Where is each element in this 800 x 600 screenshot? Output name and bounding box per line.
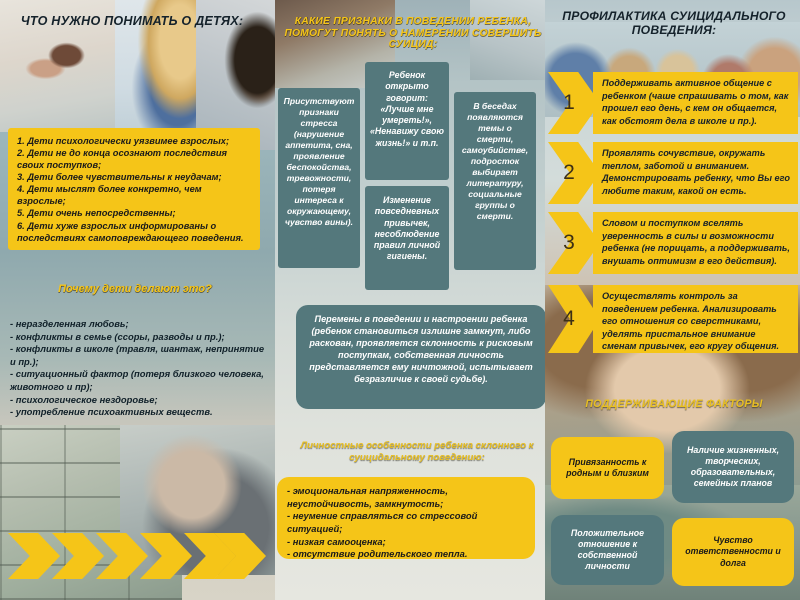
list-item: 6. Дети хуже взрослых информированы о по…	[17, 220, 251, 244]
list-item: - неразделенная любовь;	[10, 318, 268, 331]
sign-box-open-statements: Ребенок открыто говорит: «Лучше мне умер…	[365, 62, 449, 180]
chevron-decoration-strip	[8, 533, 270, 581]
prevention-item-2: 2 Проявлять сочувствие, окружать теплом,…	[548, 142, 798, 204]
list-item: - психологическое нездоровье;	[10, 394, 268, 407]
item-number: 3	[554, 231, 584, 255]
personal-traits-panel: - эмоциональная напряженность, неустойчи…	[277, 477, 535, 559]
supporting-factors-title: ПОДДЕРЖИВАЮЩИЕ ФАКТОРЫ	[552, 398, 796, 411]
prevention-item-1: 1 Поддерживать активное общение с ребенк…	[548, 72, 798, 134]
children-facts-list: 1. Дети психологически уязвимее взрослых…	[17, 135, 251, 244]
list-item: 3. Дети более чувствительны к неудачам;	[17, 171, 251, 183]
item-number: 4	[554, 307, 584, 331]
support-card-plans: Наличие жизненных, творческих, образоват…	[672, 431, 794, 503]
list-item: 4. Дети мыслят более конкретно, чем взро…	[17, 183, 251, 207]
item-text: Осуществлять контроль за поведением ребе…	[593, 285, 798, 353]
why-reasons-list: - неразделенная любовь; - конфликты в се…	[10, 318, 268, 419]
item-text: Поддерживать активное общение с ребенком…	[593, 72, 798, 134]
list-item: - употребление психоактивных веществ.	[10, 406, 268, 419]
children-facts-panel: 1. Дети психологически уязвимее взрослых…	[8, 128, 260, 250]
list-item: - конфликты в школе (травля, шантаж, неп…	[10, 343, 268, 368]
list-item: - эмоциональная напряженность, неустойчи…	[287, 485, 525, 510]
list-item: 1. Дети психологически уязвимее взрослых…	[17, 135, 251, 147]
behaviour-change-wide-box: Перемены в поведении и настроении ребенк…	[296, 305, 546, 409]
sign-box-habit-change: Изменение повседневных привычек, несоблю…	[365, 186, 449, 290]
support-card-responsibility: Чувство ответственности и долга	[672, 518, 794, 586]
item-text: Словом и поступком вселять уверенность в…	[593, 212, 798, 274]
support-card-self-attitude: Положительное отношение к собственной ли…	[551, 515, 664, 585]
sign-box-stress: Присутствуют признаки стресса (нарушение…	[278, 88, 360, 268]
list-item: - неумение справляться со стрессовой сит…	[287, 510, 525, 535]
item-number: 1	[554, 91, 584, 115]
personal-traits-list: - эмоциональная напряженность, неустойчи…	[287, 485, 525, 561]
infographic-poster: ЧТО НУЖНО ПОНИМАТЬ О ДЕТЯХ: 1. Дети псих…	[0, 0, 800, 600]
right-column-title: ПРОФИЛАКТИКА СУИЦИДАЛЬНОГО ПОВЕДЕНИЯ:	[552, 10, 796, 37]
item-number: 2	[554, 161, 584, 185]
prevention-item-3: 3 Словом и поступком вселять уверенность…	[548, 212, 798, 274]
chevron-icon	[8, 533, 60, 579]
list-item: 2. Дети не до конца осознают последствия…	[17, 147, 251, 171]
list-item: - конфликты в семье (ссоры, разводы и пр…	[10, 331, 268, 344]
support-card-attachment: Привязанность к родным и близким	[551, 437, 664, 499]
prevention-item-4: 4 Осуществлять контроль за поведением ре…	[548, 285, 798, 353]
list-item: - ситуационный фактор (потеря близкого ч…	[10, 368, 268, 393]
personal-traits-title: Личностные особенности ребенка склонного…	[292, 440, 542, 463]
item-text: Проявлять сочувствие, окружать теплом, з…	[593, 142, 798, 204]
sign-box-death-topics: В беседах появляются темы о смерти, само…	[454, 92, 536, 270]
left-column-title: ЧТО НУЖНО ПОНИМАТЬ О ДЕТЯХ:	[8, 14, 256, 28]
middle-column-title: КАКИЕ ПРИЗНАКИ В ПОВЕДЕНИИ РЕБЕНКА, ПОМО…	[282, 16, 544, 51]
list-item: 5. Дети очень непосредственны;	[17, 207, 251, 219]
why-children-title: Почему дети делают это?	[20, 283, 250, 296]
list-item: - низкая самооценка;	[287, 536, 525, 549]
list-item: - отсутствие родительского тепла.	[287, 548, 525, 561]
